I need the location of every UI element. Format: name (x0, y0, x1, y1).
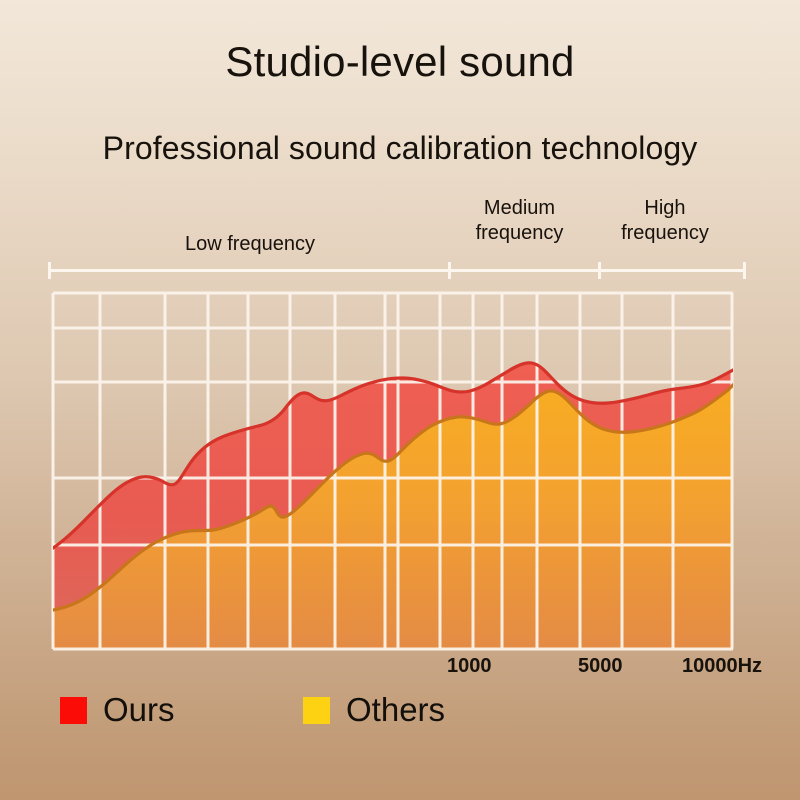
ruler-tick-start (48, 262, 51, 279)
legend-item-ours: Ours (60, 686, 175, 734)
legend-swatch-ours (60, 697, 87, 724)
legend-item-others: Others (303, 686, 445, 734)
ruler-tick-low-medium (448, 262, 451, 279)
legend-label-others: Others (346, 691, 445, 729)
legend-label-ours: Ours (103, 691, 175, 729)
band-label-medium-line2: frequency (432, 221, 607, 246)
page-subtitle: Professional sound calibration technolog… (0, 130, 800, 167)
poster-root: Studio-level sound Professional sound ca… (0, 0, 800, 800)
page-title: Studio-level sound (0, 38, 800, 86)
chart-legend: Ours Others (60, 686, 480, 734)
chart-plot-area (53, 293, 733, 649)
axis-tick-label-1000: 1000 (447, 655, 492, 678)
frequency-response-chart (50, 290, 736, 652)
legend-swatch-others (303, 697, 330, 724)
band-label-high-line2: frequency (585, 221, 745, 246)
frequency-band-ruler (48, 262, 746, 278)
band-label-high: High frequency (585, 196, 745, 246)
axis-tick-label-5000: 5000 (578, 655, 623, 678)
band-label-medium: Medium frequency (432, 196, 607, 246)
ruler-line (48, 269, 746, 272)
band-label-high-line1: High (585, 196, 745, 221)
band-label-medium-line1: Medium (432, 196, 607, 221)
chart-svg (50, 290, 736, 652)
band-label-low: Low frequency (120, 232, 380, 257)
ruler-tick-end (743, 262, 746, 279)
band-label-low-line1: Low frequency (120, 232, 380, 257)
ruler-tick-medium-high (598, 262, 601, 279)
axis-tick-label-10000: 10000Hz (682, 655, 762, 678)
